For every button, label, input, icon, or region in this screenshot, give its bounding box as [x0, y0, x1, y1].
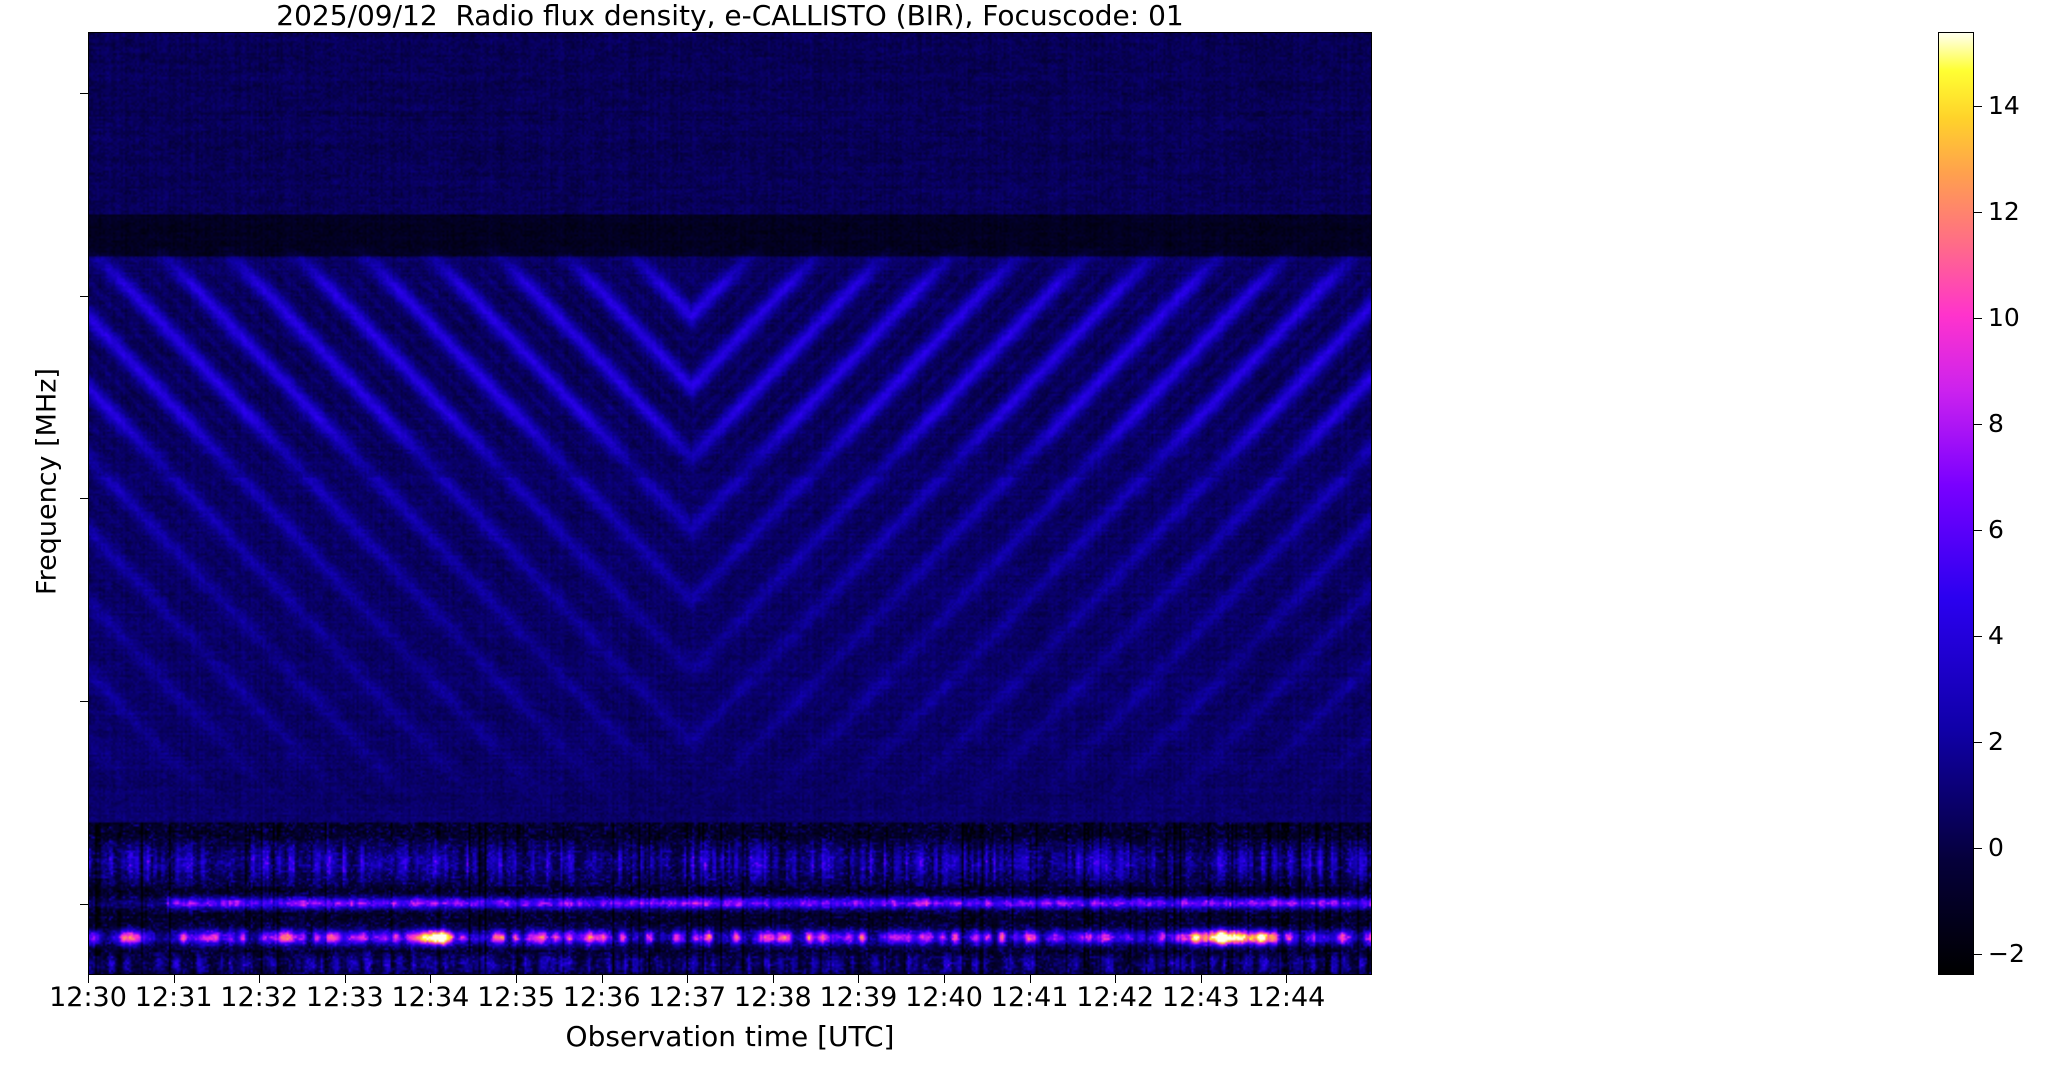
- page-title: 2025/09/12 Radio flux density, e-CALLIST…: [88, 0, 1372, 32]
- y-tick-mark: [80, 93, 88, 94]
- colorbar-tick-mark: [1974, 106, 1982, 107]
- y-tick-mark: [80, 904, 88, 905]
- colorbar-gradient: [1938, 32, 1974, 975]
- x-axis-label: Observation time [UTC]: [88, 1020, 1372, 1053]
- spectrogram-plot-area[interactable]: [88, 32, 1372, 975]
- colorbar-tick-mark: [1974, 636, 1982, 637]
- colorbar-tick-mark: [1974, 530, 1982, 531]
- y-tick-mark: [80, 701, 88, 702]
- y-axis-label: Frequency [MHz]: [32, 82, 63, 882]
- colorbar[interactable]: [1938, 32, 1974, 975]
- spectrogram-image: [89, 33, 1371, 974]
- colorbar-tick-mark: [1974, 848, 1982, 849]
- colorbar-tick-mark: [1974, 742, 1982, 743]
- colorbar-tick-mark: [1974, 212, 1982, 213]
- x-tick-label: 12:44: [1206, 982, 1366, 1013]
- colorbar-tick-mark: [1974, 318, 1982, 319]
- colorbar-tick-mark: [1974, 954, 1982, 955]
- y-tick-mark: [80, 296, 88, 297]
- y-tick-mark: [80, 498, 88, 499]
- colorbar-tick-mark: [1974, 424, 1982, 425]
